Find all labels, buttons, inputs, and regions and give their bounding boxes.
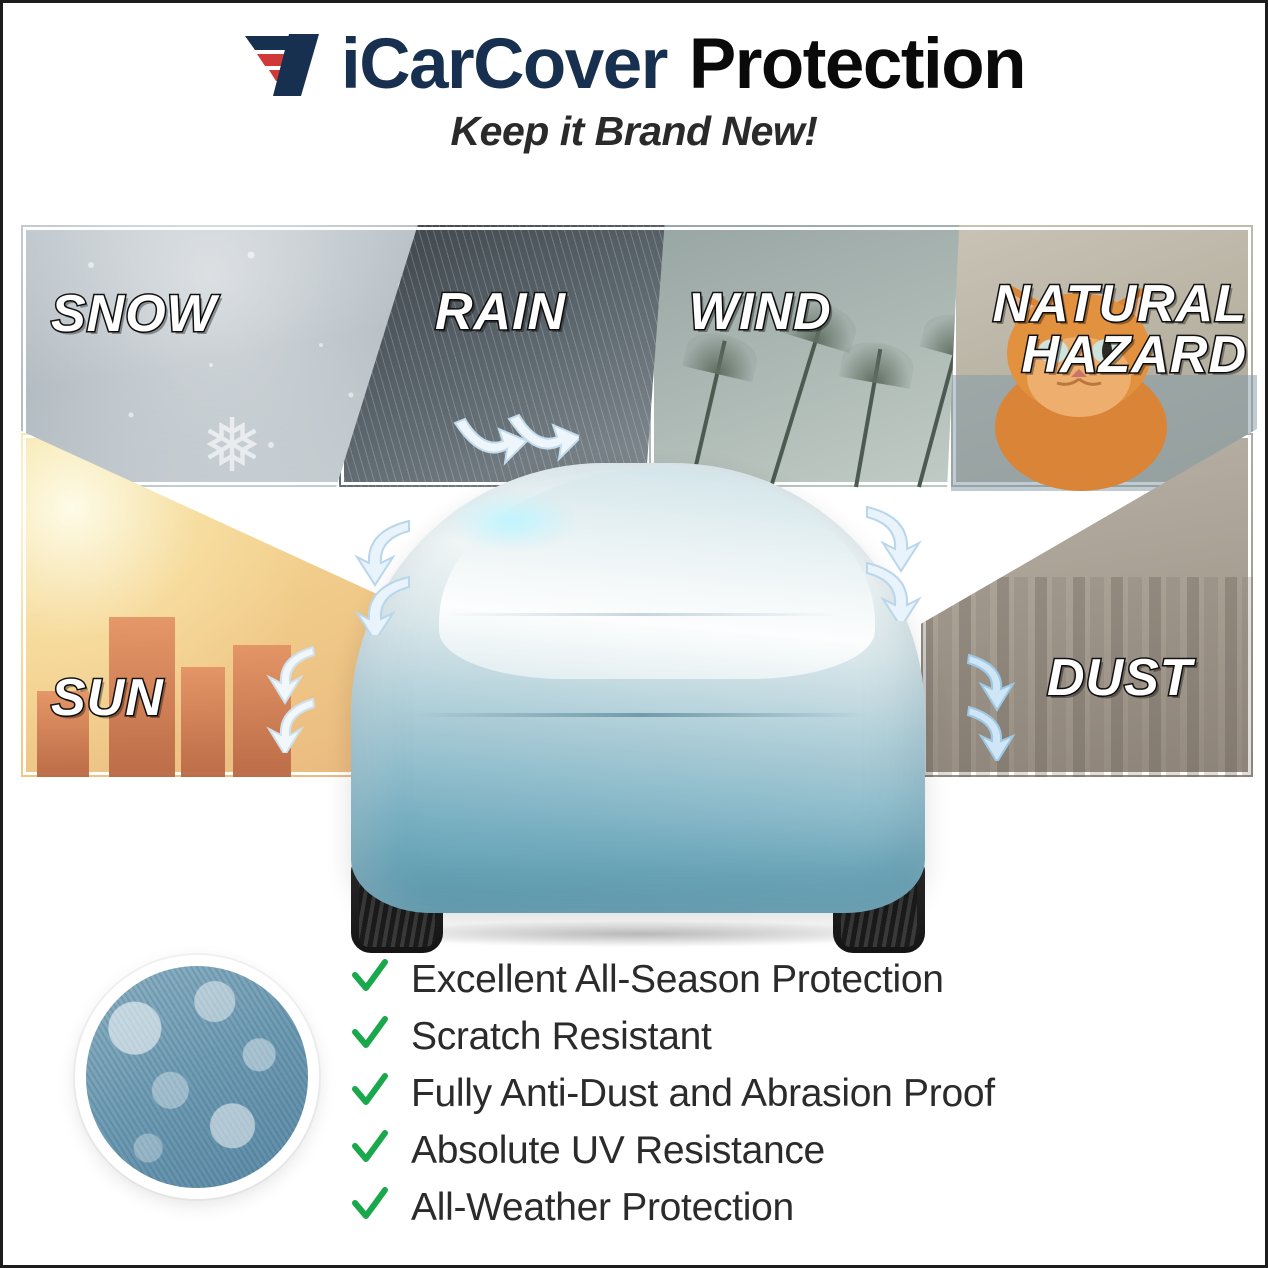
- deflection-arrow-icon: [265, 643, 325, 753]
- list-item: Excellent All-Season Protection: [351, 951, 1191, 1008]
- cover-seam-upper: [447, 613, 837, 616]
- list-item: Fully Anti-Dust and Abrasion Proof: [351, 1065, 1191, 1122]
- water-bead-fabric-closeup: [75, 955, 319, 1199]
- check-icon: [351, 1186, 389, 1229]
- list-item: All-Weather Protection: [351, 1179, 1191, 1236]
- check-icon: [351, 1129, 389, 1172]
- check-icon: [351, 1072, 389, 1115]
- car-cover-body: [351, 463, 925, 913]
- panel-label-dust: DUST: [1047, 653, 1193, 704]
- feature-label: Fully Anti-Dust and Abrasion Proof: [411, 1072, 995, 1116]
- feature-label: All-Weather Protection: [411, 1186, 794, 1230]
- panel-label-rain: RAIN: [435, 287, 566, 338]
- tagline: Keep it Brand New!: [3, 108, 1265, 155]
- header: iCarCover Protection Keep it Brand New!: [3, 29, 1265, 155]
- deflection-arrow-icon: [351, 515, 425, 635]
- snowflake-icon: ❅: [201, 403, 263, 489]
- icarcover-wing-logo-icon: [243, 32, 335, 98]
- feature-list: Excellent All-Season Protection Scratch …: [351, 951, 1191, 1236]
- panel-label-hazard: NATURAL HAZARD: [967, 279, 1247, 381]
- brand-name: iCarCover: [341, 29, 667, 100]
- brand-suffix: Protection: [689, 29, 1025, 100]
- poster-frame: iCarCover Protection Keep it Brand New!: [0, 0, 1268, 1268]
- feature-label: Scratch Resistant: [411, 1015, 712, 1059]
- car-shadow: [363, 921, 913, 947]
- feature-label: Absolute UV Resistance: [411, 1129, 825, 1173]
- check-icon: [351, 1015, 389, 1058]
- cover-seam-lower: [415, 713, 867, 717]
- brand-lockup: iCarCover Protection: [3, 29, 1265, 100]
- panel-label-snow: SNOW: [51, 289, 217, 340]
- deflection-arrow-icon: [955, 651, 1025, 761]
- highlight-glint: [447, 491, 577, 551]
- panel-label-sun: SUN: [51, 673, 164, 724]
- deflection-arrow-icon: [449, 399, 579, 489]
- panel-label-wind: WIND: [689, 287, 832, 338]
- deflection-arrow-icon: [851, 501, 927, 621]
- list-item: Scratch Resistant: [351, 1008, 1191, 1065]
- feature-label: Excellent All-Season Protection: [411, 958, 944, 1002]
- list-item: Absolute UV Resistance: [351, 1122, 1191, 1179]
- check-icon: [351, 958, 389, 1001]
